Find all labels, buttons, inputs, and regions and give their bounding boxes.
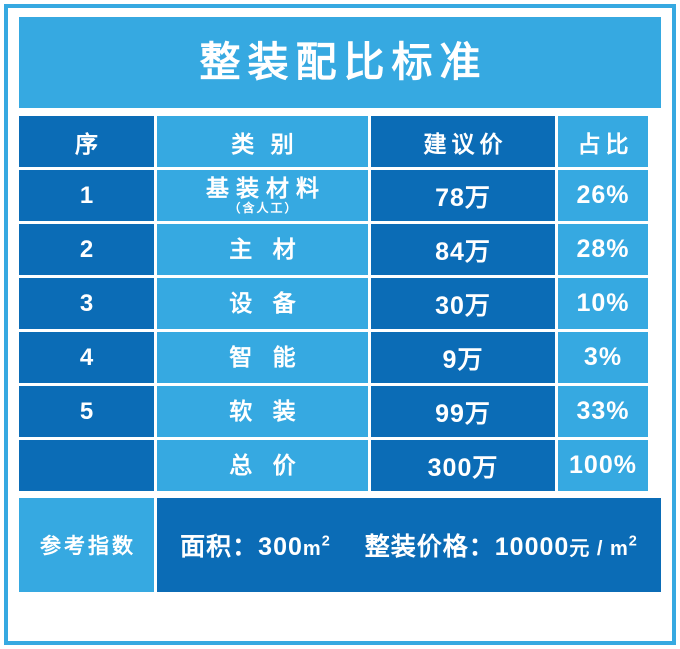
row-category-main: 设 备 — [222, 291, 302, 315]
poster-frame: 整装配比标准 序 类 别 建议价 占比 1 基装材料 （含人工） 78万 — [4, 4, 676, 645]
row-price: 30万 — [371, 278, 555, 329]
area-value: 300 — [258, 533, 303, 561]
table-row: 4 智 能 9万 3% — [19, 332, 661, 383]
area-unit: m — [303, 538, 322, 560]
unit-price-unit-sup: 2 — [629, 534, 638, 550]
total-index — [19, 440, 154, 491]
unit-price-item: 整装价格：10000元 / m2 — [365, 527, 638, 563]
row-category: 软 装 — [157, 386, 368, 437]
poster-inner: 整装配比标准 序 类 别 建议价 占比 1 基装材料 （含人工） 78万 — [19, 17, 661, 630]
area-label: 面积： — [180, 533, 258, 561]
table-row: 2 主 材 84万 28% — [19, 224, 661, 275]
table-row: 3 设 备 30万 10% — [19, 278, 661, 329]
row-price: 99万 — [371, 386, 555, 437]
reference-index-row: 参考指数 面积：300m2 整装价格：10000元 / m2 — [19, 498, 661, 592]
row-category: 主 材 — [157, 224, 368, 275]
row-share: 33% — [558, 386, 648, 437]
row-share: 26% — [558, 170, 648, 221]
row-category-main: 智 能 — [222, 345, 302, 369]
unit-price-value: 10000 — [495, 533, 570, 561]
row-category-main: 软 装 — [222, 399, 302, 423]
table-row: 1 基装材料 （含人工） 78万 26% — [19, 170, 661, 221]
reference-index-values: 面积：300m2 整装价格：10000元 / m2 — [157, 498, 661, 592]
total-price: 300万 — [371, 440, 555, 491]
table-total-row: 总 价 300万 100% — [19, 440, 661, 491]
header-category: 类 别 — [157, 116, 368, 167]
unit-price-unit: 元 / m — [569, 538, 628, 560]
row-category-main: 主 材 — [222, 237, 302, 261]
row-index: 1 — [19, 170, 154, 221]
row-price: 9万 — [371, 332, 555, 383]
table-header-row: 序 类 别 建议价 占比 — [19, 116, 661, 167]
row-index: 5 — [19, 386, 154, 437]
title-bar: 整装配比标准 — [19, 17, 661, 108]
ratio-table: 序 类 别 建议价 占比 1 基装材料 （含人工） 78万 26% 2 — [19, 116, 661, 494]
area-item: 面积：300m2 — [180, 527, 331, 563]
header-index: 序 — [19, 116, 154, 167]
row-index: 2 — [19, 224, 154, 275]
table-row: 5 软 装 99万 33% — [19, 386, 661, 437]
row-category-sub: （含人工） — [226, 202, 298, 215]
total-category: 总 价 — [157, 440, 368, 491]
unit-price-label: 整装价格： — [365, 533, 495, 561]
row-price: 78万 — [371, 170, 555, 221]
row-category-main: 基装材料 — [199, 176, 326, 200]
page-title: 整装配比标准 — [193, 42, 488, 83]
row-category: 设 备 — [157, 278, 368, 329]
row-category: 基装材料 （含人工） — [157, 170, 368, 221]
row-share: 10% — [558, 278, 648, 329]
row-share: 3% — [558, 332, 648, 383]
row-index: 4 — [19, 332, 154, 383]
header-share: 占比 — [558, 116, 648, 167]
poster-root: 整装配比标准 序 类 别 建议价 占比 1 基装材料 （含人工） 78万 — [0, 0, 680, 649]
row-price: 84万 — [371, 224, 555, 275]
area-unit-sup: 2 — [322, 534, 331, 550]
row-category: 智 能 — [157, 332, 368, 383]
row-share: 28% — [558, 224, 648, 275]
total-share: 100% — [558, 440, 648, 491]
row-index: 3 — [19, 278, 154, 329]
reference-index-label: 参考指数 — [19, 498, 154, 592]
header-price: 建议价 — [371, 116, 555, 167]
